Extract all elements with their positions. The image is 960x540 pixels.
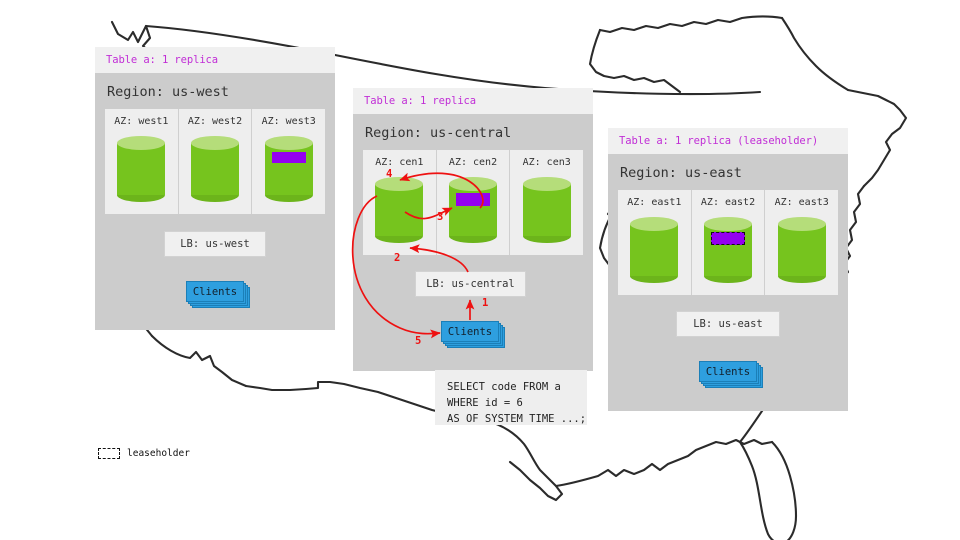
cylinder-body (191, 143, 239, 195)
cylinder-body (265, 143, 313, 195)
step-number-5: 5 (415, 335, 421, 347)
leaseholder-swatch-icon (98, 448, 120, 459)
cylinder-top (265, 136, 313, 150)
region-header-us-west: Table a: 1 replica (95, 47, 335, 73)
cylinder-east1[interactable] (630, 217, 678, 283)
region-title-us-central: Region: us-central (353, 114, 593, 150)
cylinder-top (191, 136, 239, 150)
cylinder-body (630, 224, 678, 276)
cylinder-top (778, 217, 826, 231)
clients-us-central[interactable]: Clients (441, 321, 507, 349)
cylinder-west1[interactable] (117, 136, 165, 202)
az-east1[interactable]: AZ: east1 (618, 190, 691, 295)
az-row-us-west: AZ: west1 AZ: west2 AZ: west3 (105, 109, 325, 214)
cylinder-top (117, 136, 165, 150)
az-east3[interactable]: AZ: east3 (764, 190, 838, 295)
lb-us-central[interactable]: LB: us-central (415, 271, 526, 297)
step-number-4: 4 (386, 168, 392, 180)
cylinder-east3[interactable] (778, 217, 826, 283)
cylinder-body (117, 143, 165, 195)
replica-west3[interactable] (272, 152, 306, 163)
replica-east2-leaseholder[interactable] (711, 232, 745, 245)
region-header-us-east: Table a: 1 replica (leaseholder) (608, 128, 848, 154)
step-number-2: 2 (394, 252, 400, 264)
cylinder-body (778, 224, 826, 276)
step-number-3: 3 (437, 211, 443, 223)
az-label-east3: AZ: east3 (775, 197, 829, 208)
cylinder-top (523, 177, 571, 191)
region-title-us-west: Region: us-west (95, 73, 335, 109)
az-cen3[interactable]: AZ: cen3 (509, 150, 583, 255)
clients-us-east[interactable]: Clients (699, 361, 765, 389)
az-row-us-central: AZ: cen1 AZ: cen2 AZ: cen3 (363, 150, 583, 255)
region-title-us-east: Region: us-east (608, 154, 848, 190)
az-label-east2: AZ: east2 (701, 197, 755, 208)
clients-label-us-east[interactable]: Clients (699, 361, 757, 382)
diagram-canvas: Table a: 1 replica Region: us-west AZ: w… (0, 0, 960, 540)
step-number-1: 1 (482, 297, 488, 309)
cylinder-cen2[interactable] (449, 177, 497, 243)
clients-label-us-west[interactable]: Clients (186, 281, 244, 302)
clients-label-us-central[interactable]: Clients (441, 321, 499, 342)
legend-label: leaseholder (127, 448, 190, 459)
cylinder-west3[interactable] (265, 136, 313, 202)
cylinder-east2[interactable] (704, 217, 752, 283)
lb-us-west[interactable]: LB: us-west (164, 231, 266, 257)
cylinder-body (449, 184, 497, 236)
az-label-west3: AZ: west3 (262, 116, 316, 127)
az-east2[interactable]: AZ: east2 (691, 190, 765, 295)
az-row-us-east: AZ: east1 AZ: east2 AZ: east3 (618, 190, 838, 295)
cylinder-top (375, 177, 423, 191)
lb-us-east[interactable]: LB: us-east (676, 311, 780, 337)
cylinder-body (375, 184, 423, 236)
cylinder-cen1[interactable] (375, 177, 423, 243)
clients-us-west[interactable]: Clients (186, 281, 252, 309)
az-label-cen1: AZ: cen1 (375, 157, 423, 168)
az-label-west2: AZ: west2 (188, 116, 242, 127)
legend: leaseholder (98, 448, 190, 459)
region-header-us-central: Table a: 1 replica (353, 88, 593, 114)
sql-query-box: SELECT code FROM a WHERE id = 6 AS OF SY… (435, 370, 587, 425)
az-label-west1: AZ: west1 (114, 116, 168, 127)
cylinder-top (630, 217, 678, 231)
cylinder-top (449, 177, 497, 191)
cylinder-cen3[interactable] (523, 177, 571, 243)
az-label-east1: AZ: east1 (627, 197, 681, 208)
az-cen2[interactable]: AZ: cen2 (436, 150, 510, 255)
cylinder-body (523, 184, 571, 236)
az-west3[interactable]: AZ: west3 (251, 109, 325, 214)
cylinder-top (704, 217, 752, 231)
replica-cen2[interactable] (456, 193, 490, 206)
az-label-cen2: AZ: cen2 (449, 157, 497, 168)
az-label-cen3: AZ: cen3 (523, 157, 571, 168)
az-west2[interactable]: AZ: west2 (178, 109, 252, 214)
az-west1[interactable]: AZ: west1 (105, 109, 178, 214)
cylinder-west2[interactable] (191, 136, 239, 202)
az-cen1[interactable]: AZ: cen1 (363, 150, 436, 255)
